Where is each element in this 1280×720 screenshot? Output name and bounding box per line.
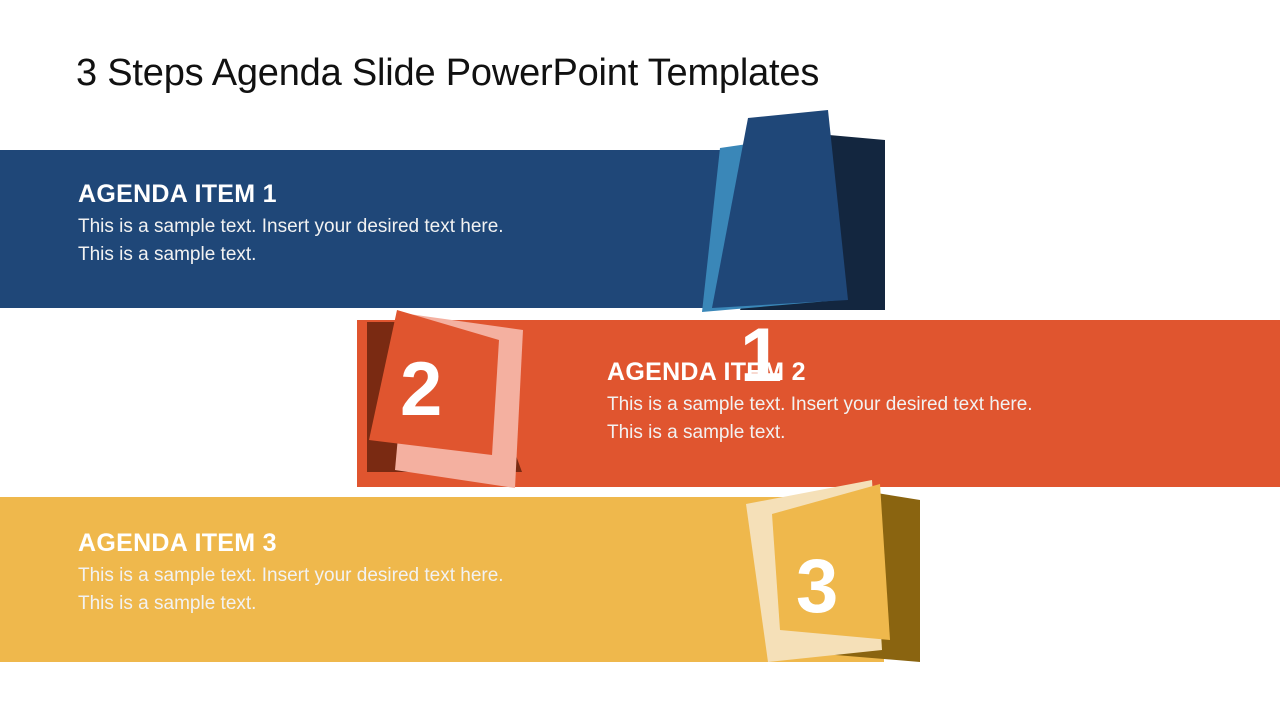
agenda-badge-number-3: 3 bbox=[796, 549, 838, 625]
agenda-badge-1 bbox=[680, 110, 920, 330]
badge-main-shape-1 bbox=[712, 110, 848, 308]
agenda-text-block-2: AGENDA ITEM 2 This is a sample text. Ins… bbox=[607, 358, 1033, 446]
agenda-item-desc-line2-2: This is a sample text. bbox=[607, 419, 1033, 447]
agenda-text-block-3: AGENDA ITEM 3 This is a sample text. Ins… bbox=[78, 529, 504, 617]
agenda-badge-2 bbox=[347, 300, 567, 500]
agenda-item-title-1: AGENDA ITEM 1 bbox=[78, 180, 504, 209]
agenda-item-title-2: AGENDA ITEM 2 bbox=[607, 358, 1033, 387]
agenda-badge-number-2: 2 bbox=[400, 352, 442, 428]
agenda-item-desc-line2-1: This is a sample text. bbox=[78, 241, 504, 269]
agenda-item-desc-line2-3: This is a sample text. bbox=[78, 590, 504, 618]
agenda-item-desc-line1-1: This is a sample text. Insert your desir… bbox=[78, 213, 504, 241]
agenda-item-title-3: AGENDA ITEM 3 bbox=[78, 529, 504, 558]
agenda-row-3[interactable]: AGENDA ITEM 3 This is a sample text. Ins… bbox=[0, 497, 884, 662]
agenda-row-2[interactable]: AGENDA ITEM 2 This is a sample text. Ins… bbox=[357, 320, 1280, 487]
agenda-text-block-1: AGENDA ITEM 1 This is a sample text. Ins… bbox=[78, 180, 504, 268]
agenda-item-desc-line1-2: This is a sample text. Insert your desir… bbox=[607, 391, 1033, 419]
page-title: 3 Steps Agenda Slide PowerPoint Template… bbox=[76, 52, 819, 95]
slide-canvas: 3 Steps Agenda Slide PowerPoint Template… bbox=[0, 0, 1280, 720]
agenda-item-desc-line1-3: This is a sample text. Insert your desir… bbox=[78, 562, 504, 590]
agenda-row-1[interactable]: AGENDA ITEM 1 This is a sample text. Ins… bbox=[0, 150, 884, 308]
